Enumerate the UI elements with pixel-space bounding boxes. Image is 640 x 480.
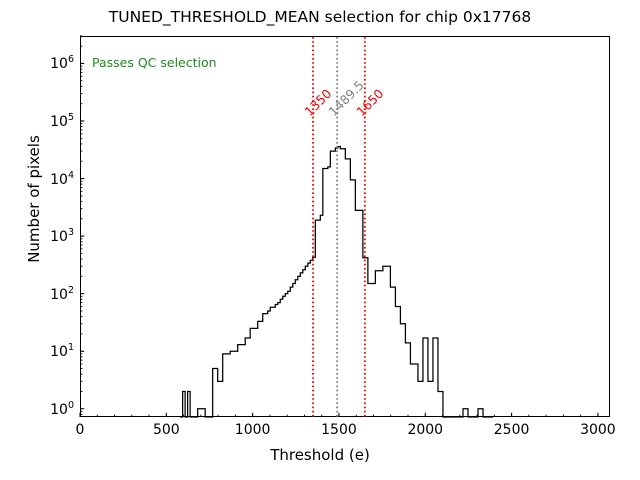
y-tick-label: 100 xyxy=(50,400,74,418)
x-tick-label: 1500 xyxy=(321,422,357,438)
qc-annotation: Passes QC selection xyxy=(92,55,217,70)
x-tick-label: 1000 xyxy=(235,422,271,438)
x-tick-label: 2000 xyxy=(407,422,443,438)
x-tick-label: 2500 xyxy=(494,422,530,438)
x-axis-label: Threshold (e) xyxy=(0,446,640,464)
chart-title: TUNED_THRESHOLD_MEAN selection for chip … xyxy=(0,8,640,26)
y-tick-label: 104 xyxy=(50,170,74,188)
y-axis-label: Number of pixels xyxy=(25,69,43,329)
x-tick-label: 500 xyxy=(153,422,180,438)
y-tick-label: 105 xyxy=(50,112,74,130)
x-tick-label: 0 xyxy=(76,422,85,438)
y-tick-label: 103 xyxy=(50,227,74,245)
x-tick-label: 3000 xyxy=(580,422,616,438)
y-tick-label: 106 xyxy=(50,55,74,73)
y-tick-label: 101 xyxy=(50,342,74,360)
figure: TUNED_THRESHOLD_MEAN selection for chip … xyxy=(0,0,640,480)
y-tick-label: 102 xyxy=(50,285,74,303)
